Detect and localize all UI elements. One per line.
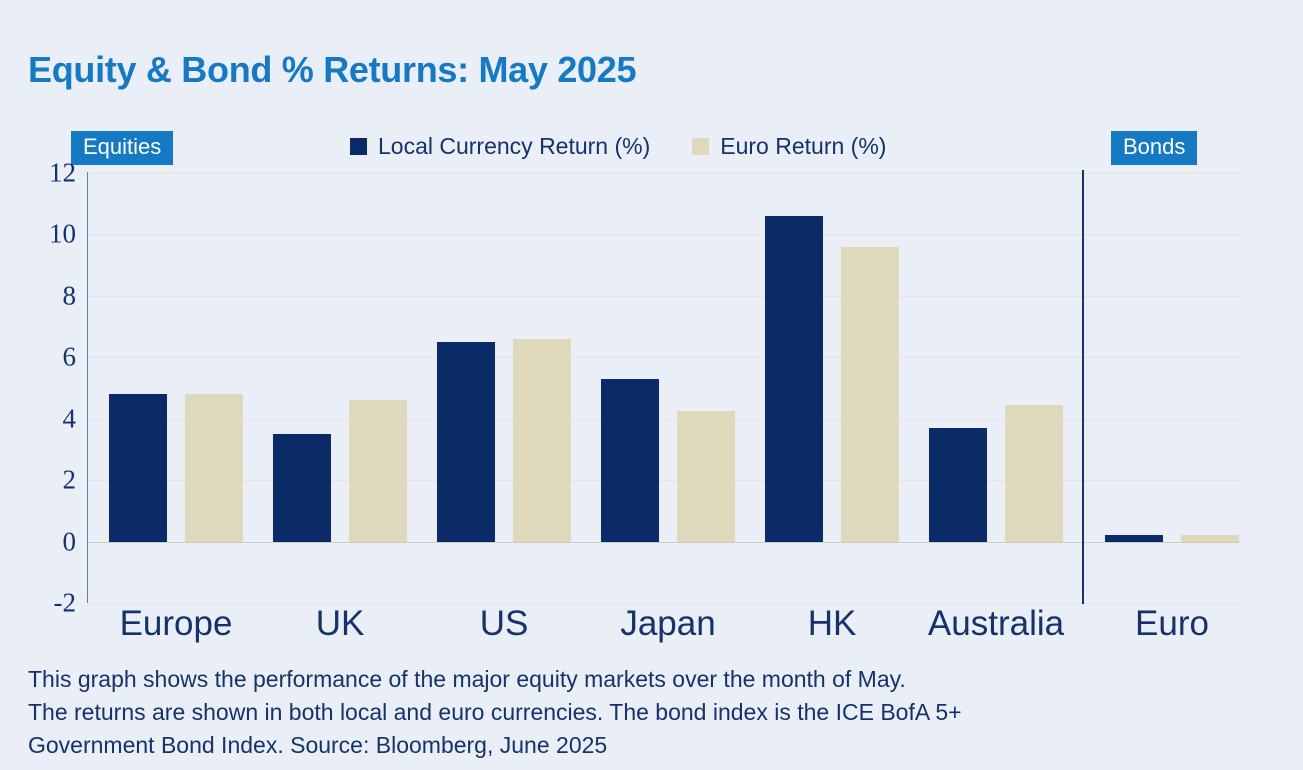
bar-group (914, 173, 1078, 603)
y-axis-tick-label: 2 (16, 465, 76, 496)
y-axis-tick-label: 12 (16, 158, 76, 189)
bar-uk-euro (349, 400, 407, 541)
y-axis-tick-labels: 121086420-2 (10, 173, 76, 603)
section-badge-equities: Equities (71, 131, 173, 165)
bar-japan-local (601, 379, 659, 542)
y-axis-tick-label: 4 (16, 403, 76, 434)
footnote-line-3: Government Bond Index. Source: Bloomberg… (28, 729, 1278, 762)
footnote-line-2: The returns are shown in both local and … (28, 696, 1278, 729)
bar-us-euro (513, 339, 571, 542)
bar-us-local (437, 342, 495, 542)
y-axis-tick-label: 10 (16, 219, 76, 250)
y-axis-tick-label: 8 (16, 280, 76, 311)
chart-page: Equity & Bond % Returns: May 2025 Equiti… (0, 0, 1303, 770)
bar-uk-local (273, 434, 331, 542)
x-axis-tick-labels: EuropeUKUSJapanHKAustraliaEuro (88, 604, 1240, 652)
y-axis-tick-label: -2 (16, 588, 76, 619)
chart-footnote: This graph shows the performance of the … (28, 663, 1278, 762)
plot-area (88, 173, 1240, 603)
square-swatch-navy-icon (350, 138, 367, 155)
bar-group (422, 173, 586, 603)
y-axis-tick-label: 6 (16, 342, 76, 373)
legend-item-euro: Euro Return (%) (692, 133, 886, 160)
x-axis-label-euro: Euro (1135, 604, 1209, 644)
legend-label-euro: Euro Return (%) (720, 133, 886, 160)
x-axis-label-europe: Europe (120, 604, 233, 644)
x-axis-label-uk: UK (316, 604, 365, 644)
square-swatch-beige-icon (692, 138, 709, 155)
bar-euro-local (1105, 535, 1163, 541)
bar-europe-euro (185, 394, 243, 541)
bar-europe-local (109, 394, 167, 541)
bar-japan-euro (677, 411, 735, 542)
bar-group (258, 173, 422, 603)
legend-item-local-currency: Local Currency Return (%) (350, 133, 650, 160)
x-axis-label-japan: Japan (620, 604, 715, 644)
bar-group (94, 173, 258, 603)
x-axis-label-us: US (480, 604, 529, 644)
section-badge-bonds: Bonds (1111, 131, 1197, 165)
x-axis-label-australia: Australia (928, 604, 1064, 644)
bar-group (750, 173, 914, 603)
y-axis-tick-label: 0 (16, 526, 76, 557)
bar-australia-local (929, 428, 987, 542)
bar-group (586, 173, 750, 603)
x-axis-label-hk: HK (808, 604, 857, 644)
footnote-line-1: This graph shows the performance of the … (28, 663, 1278, 696)
equities-bonds-divider (1082, 170, 1084, 604)
legend-label-local-currency: Local Currency Return (%) (378, 133, 650, 160)
bar-group (1090, 173, 1254, 603)
page-title: Equity & Bond % Returns: May 2025 (28, 49, 636, 91)
chart-legend: Local Currency Return (%) Euro Return (%… (350, 131, 886, 161)
y-axis-line (87, 172, 88, 603)
bar-hk-euro (841, 247, 899, 542)
bar-euro-euro (1181, 535, 1239, 541)
bar-hk-local (765, 216, 823, 542)
bar-australia-euro (1005, 405, 1063, 542)
